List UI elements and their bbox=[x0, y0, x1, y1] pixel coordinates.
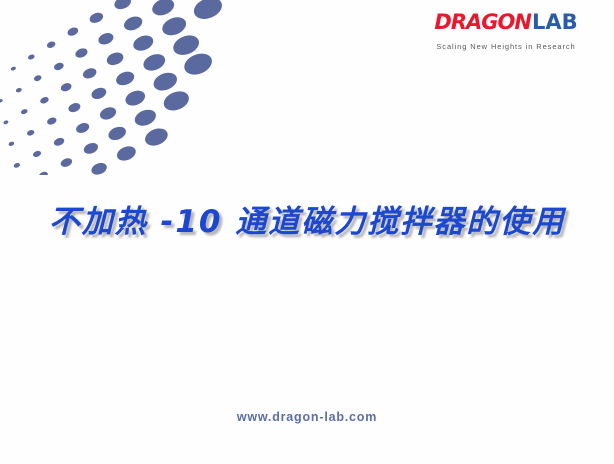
presentation-slide: DRAGONLAB Scaling New Heights in Researc… bbox=[0, 0, 614, 464]
halftone-dot-swoosh-decoration bbox=[0, 0, 240, 175]
footer-container: www.dragon-lab.com bbox=[0, 408, 614, 426]
website-url[interactable]: www.dragon-lab.com bbox=[237, 410, 377, 424]
brand-wordmark: DRAGONLAB bbox=[416, 12, 596, 33]
slide-title: 不加热 -10 通道磁力搅拌器的使用 bbox=[49, 196, 566, 241]
brand-logo: DRAGONLAB Scaling New Heights in Researc… bbox=[416, 12, 596, 51]
title-container: 不加热 -10 通道磁力搅拌器的使用 bbox=[0, 196, 614, 241]
brand-tagline: Scaling New Heights in Research bbox=[416, 42, 596, 51]
brand-wordmark-dragon: DRAGON bbox=[434, 10, 531, 34]
brand-wordmark-lab: LAB bbox=[532, 10, 578, 34]
